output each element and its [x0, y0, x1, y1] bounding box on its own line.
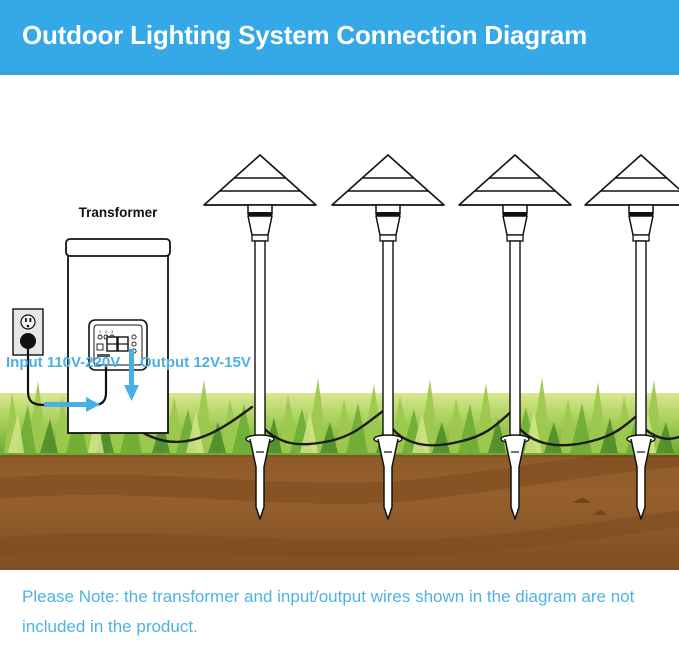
wall-outlet [13, 309, 43, 355]
page-title: Outdoor Lighting System Connection Diagr… [22, 20, 587, 51]
input-voltage-label: Input 110V-220V [6, 354, 120, 371]
plug-icon [20, 333, 36, 349]
note-block: Please Note: the transformer and input/o… [0, 578, 679, 650]
header-banner: Outdoor Lighting System Connection Diagr… [0, 0, 679, 75]
note-text: Please Note: the transformer and input/o… [22, 582, 657, 642]
transformer-label: Transformer [68, 205, 168, 220]
output-voltage-label: Output 12V-15V [140, 354, 251, 371]
soil-layer [0, 447, 679, 570]
connection-diagram-illustration: 1 2 3 [0, 75, 679, 570]
diagram-canvas: 1 2 3 [0, 75, 679, 570]
